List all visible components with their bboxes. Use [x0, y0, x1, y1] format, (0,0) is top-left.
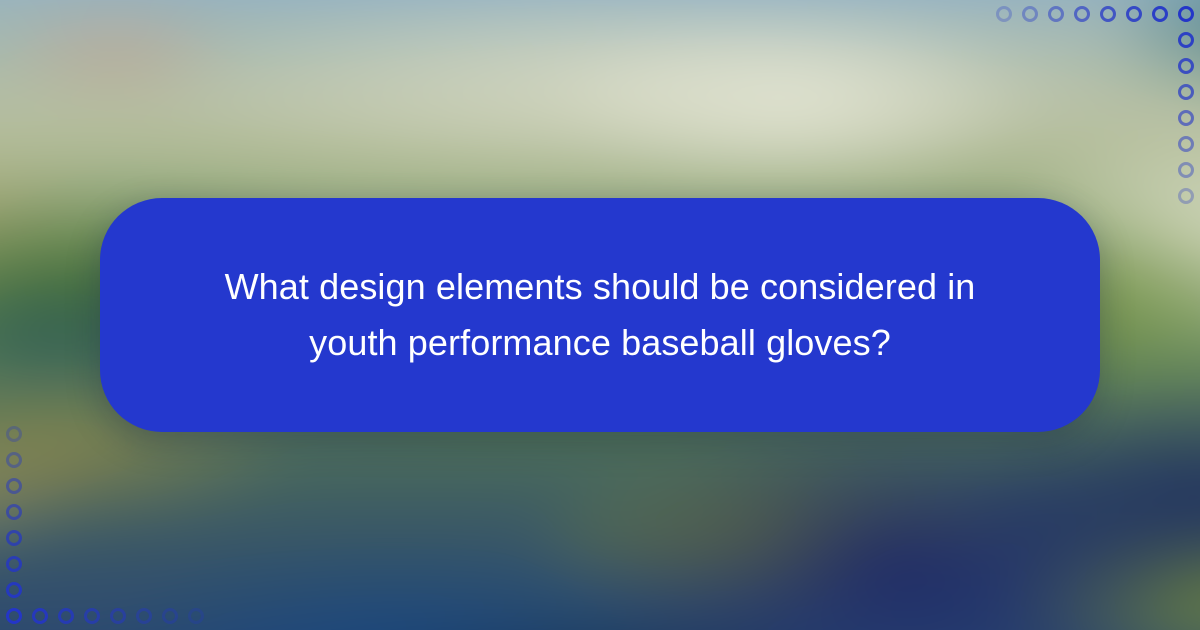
question-card: What design elements should be considere… — [100, 198, 1100, 432]
decorative-dot — [32, 608, 48, 624]
decorative-dot — [1178, 32, 1194, 48]
decorative-dot — [6, 452, 22, 468]
decorative-dot — [1048, 6, 1064, 22]
dot-cluster-bottom-left — [0, 418, 212, 630]
decorative-dot — [1178, 136, 1194, 152]
question-card-graphic: What design elements should be considere… — [0, 0, 1200, 630]
decorative-dot — [110, 608, 126, 624]
background-blob-buildings-2 — [541, 8, 1040, 196]
decorative-dot — [1178, 188, 1194, 204]
decorative-dot — [1178, 84, 1194, 100]
decorative-dot — [6, 556, 22, 572]
decorative-dot — [6, 426, 22, 442]
decorative-dot — [6, 530, 22, 546]
decorative-dot — [1022, 6, 1038, 22]
decorative-dot — [1152, 6, 1168, 22]
decorative-dot — [6, 504, 22, 520]
decorative-dot — [996, 6, 1012, 22]
decorative-dot — [1178, 58, 1194, 74]
decorative-dot — [6, 582, 22, 598]
decorative-dot — [1100, 6, 1116, 22]
dot-cluster-top-right — [988, 0, 1200, 212]
decorative-dot — [84, 608, 100, 624]
decorative-dot — [162, 608, 178, 624]
decorative-dot — [58, 608, 74, 624]
decorative-dot — [188, 608, 204, 624]
decorative-dot — [1126, 6, 1142, 22]
decorative-dot — [1178, 162, 1194, 178]
decorative-dot — [1178, 6, 1194, 22]
decorative-dot — [1074, 6, 1090, 22]
question-text: What design elements should be considere… — [160, 259, 1040, 371]
decorative-dot — [1178, 110, 1194, 126]
decorative-dot — [6, 608, 22, 624]
decorative-dot — [136, 608, 152, 624]
decorative-dot — [6, 478, 22, 494]
